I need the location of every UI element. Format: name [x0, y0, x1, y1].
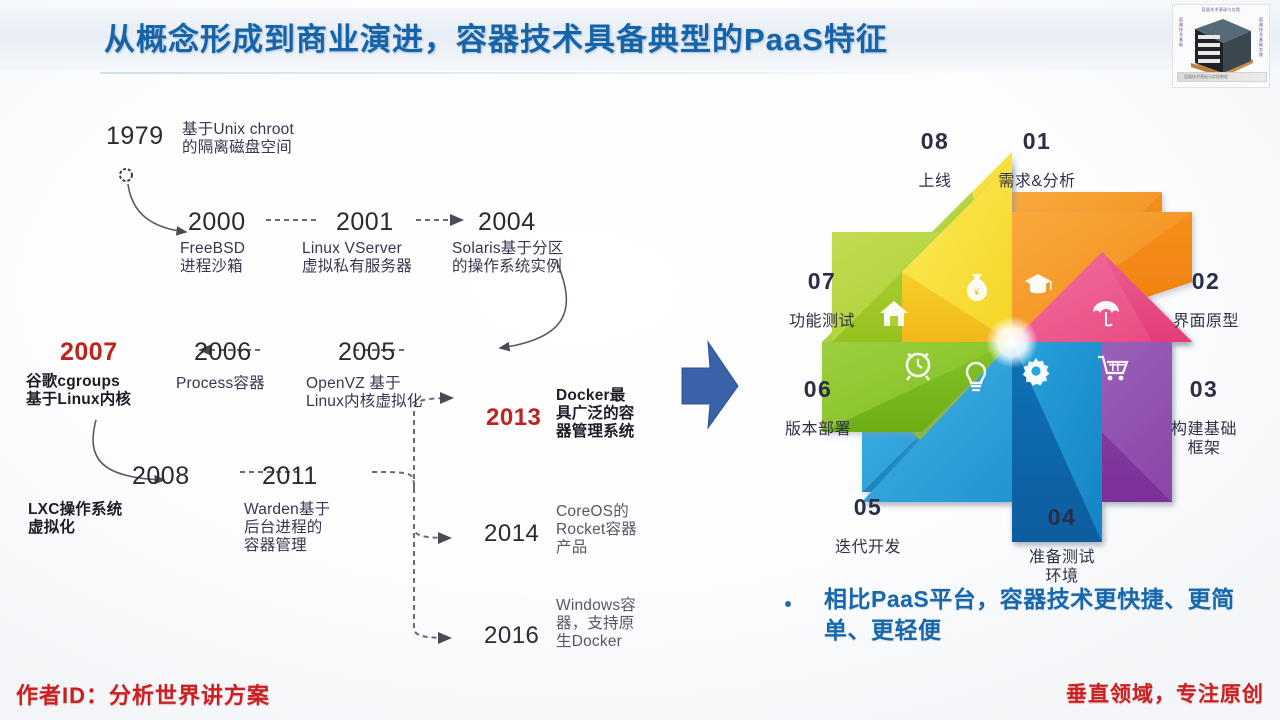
thumbnail-bar-label: 容器技术基础与实践教程 [1184, 74, 1228, 80]
thumbnail-footer-bar: 容器技术基础与实践教程 [1177, 72, 1267, 82]
timeline-desc-2004: Solaris基于分区 的操作系统实例 [452, 240, 564, 276]
timeline-year-2007: 2007 [60, 338, 118, 367]
timeline-year-2011: 2011 [262, 462, 318, 491]
timeline-year-2014: 2014 [484, 520, 539, 548]
timeline-year-1979: 1979 [106, 122, 164, 151]
title-divider [100, 72, 980, 74]
slide-canvas: 从概念形成到商业演进，容器技术具备典型的PaaS特征 容器技术基础与实践 容器技… [0, 0, 1280, 720]
transition-arrow-icon [672, 330, 782, 440]
timeline-desc-2007: 谷歌cgroups 基于Linux内核 [26, 373, 131, 409]
timeline-desc-2001: Linux VServer 虚拟私有服务器 [302, 240, 412, 276]
timeline-year-2006: 2006 [194, 338, 252, 367]
timeline-desc-2013: Docker最 具广泛的容 器管理系统 [556, 387, 635, 441]
pinwheel-label-05: 05 迭代开发 [818, 476, 918, 575]
timeline-desc-2006: Process容器 [176, 375, 265, 393]
pinwheel-label-03: 03 构建基础 框架 [1154, 358, 1254, 476]
timeline-year-2005: 2005 [338, 338, 396, 367]
svg-text:¥: ¥ [973, 287, 980, 297]
bullet-marker [785, 601, 791, 607]
timeline-year-2000: 2000 [188, 208, 246, 237]
book-cover-thumbnail: 容器技术基础与实践 容器技术基础 容器技术基础实践 容器技术基础与实践教程 [1172, 4, 1270, 88]
pinwheel-label-01: 01 需求&分析 [992, 110, 1082, 209]
timeline-year-2008: 2008 [132, 462, 190, 491]
pinwheel-diagram: ¥ [770, 100, 1270, 580]
timeline-desc-2008: LXC操作系统 虚拟化 [28, 501, 122, 537]
pinwheel-label-06: 06 版本部署 [770, 358, 866, 457]
pinwheel-label-08: 08 上线 [890, 110, 980, 209]
summary-bullet-text: 相比PaaS平台，容器技术更快捷、更简单、更轻便 [824, 584, 1264, 646]
timeline-desc-2016: Windows容 器，支持原 生Docker [556, 597, 636, 651]
pinwheel-hub [986, 316, 1038, 368]
timeline-desc-2014: CoreOS的 Rocket容器 产品 [556, 503, 637, 557]
timeline-year-2001: 2001 [336, 208, 394, 237]
timeline-desc-2011: Warden基于 后台进程的 容器管理 [244, 501, 330, 555]
page-title: 从概念形成到商业演进，容器技术具备典型的PaaS特征 [104, 14, 888, 59]
footer-tagline: 垂直领域，专注原创 [1066, 678, 1264, 708]
pinwheel-label-02: 02 界面原型 [1158, 250, 1254, 349]
timeline-desc-2000: FreeBSD 进程沙箱 [180, 240, 245, 276]
timeline-year-2013: 2013 [486, 404, 541, 432]
footer-author-id: 作者ID：分析世界讲方案 [16, 678, 270, 710]
timeline-desc-1979: 基于Unix chroot 的隔离磁盘空间 [182, 121, 294, 157]
timeline-year-2004: 2004 [478, 208, 536, 237]
pinwheel-label-07: 07 功能测试 [770, 250, 874, 349]
timeline-desc-2005: OpenVZ 基于 Linux内核虚拟化 [306, 375, 423, 411]
timeline-year-2016: 2016 [484, 622, 539, 650]
